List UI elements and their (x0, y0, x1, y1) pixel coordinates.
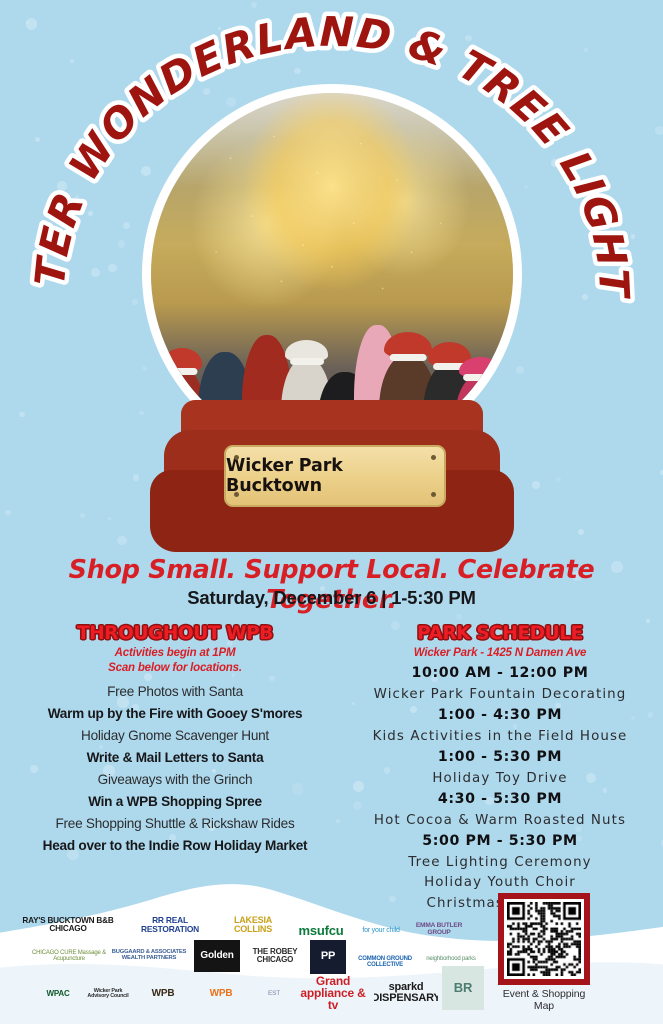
sponsor-name: sparkd DISPENSARY (374, 982, 438, 1004)
throughout-wpb-subtitle: Activities begin at 1PM Scan below for l… (10, 646, 340, 675)
qr-inner (504, 899, 584, 979)
base-plaque: Wicker Park Bucktown (224, 445, 446, 507)
santa-hat (162, 348, 202, 371)
park-schedule-time: 1:00 - 4:30 PM (340, 705, 660, 727)
title-arc-fill: WINTER WONDERLAND & TREE LIGHTING (0, 0, 638, 301)
schedule-columns: THROUGHOUT WPB Activities begin at 1PM S… (0, 624, 663, 884)
sponsor-name: neighborhood parks (426, 956, 475, 962)
throughout-sub-line-1: Activities begin at 1PM (10, 646, 340, 660)
sponsor-name: RAY'S BUCKTOWN B&B CHICAGO (20, 917, 116, 934)
sponsor-name: Grand appliance & tv (300, 976, 366, 1010)
sponsor-logo: LAKESIA COLLINS (222, 910, 284, 940)
park-schedule-event: Hot Cocoa & Warm Roasted Nuts (340, 811, 660, 831)
sponsor-logo: Grand appliance & tv (300, 976, 366, 1010)
qr-code-image[interactable] (507, 902, 581, 976)
sponsor-name: Wicker Park Advisory Council (86, 989, 130, 1000)
throughout-activity-item: Head over to the Indie Row Holiday Marke… (10, 835, 340, 857)
sponsor-name: THE ROBEY CHICAGO (246, 948, 304, 964)
poster-datetime: Saturday, December 6 | 1-5:30 PM (0, 587, 663, 609)
park-schedule-column: PARK SCHEDULE Wicker Park - 1425 N Damen… (340, 624, 660, 914)
sponsor-logo: EST (254, 974, 294, 1014)
poster-title-arc: WINTER WONDERLAND & TREE LIGHTING WINTER… (0, 28, 663, 328)
sponsor-name: for your child (362, 927, 399, 934)
sponsor-name: COMMON GROUND COLLECTIVE (350, 956, 420, 968)
sponsor-logo: for your child (358, 914, 404, 948)
sponsor-logo: sparkd DISPENSARY (374, 978, 438, 1008)
throughout-activity-item: Giveaways with the Grinch (10, 769, 340, 791)
sponsor-logo: BUGGAARD & ASSOCIATES WEALTH PARTNERS (110, 942, 188, 970)
park-schedule-time: 4:30 - 5:30 PM (340, 789, 660, 811)
qr-caption: Event & Shopping Map (492, 988, 596, 1012)
sponsor-name: EMMA BUTLER GROUP (408, 923, 470, 936)
sponsor-name: WPB (152, 989, 175, 999)
sponsor-name: WPAC (46, 990, 69, 998)
sponsor-name: RR REAL RESTORATION (124, 916, 216, 933)
sponsor-logo: WPB (196, 974, 246, 1014)
plaque-label: Wicker Park Bucktown (226, 456, 444, 496)
sponsor-logo: msufcu (290, 920, 352, 942)
snow-globe-base: Wicker Park Bucktown (150, 400, 514, 552)
sponsor-logo: PP (310, 940, 346, 974)
throughout-wpb-column: THROUGHOUT WPB Activities begin at 1PM S… (10, 624, 340, 857)
sponsor-logo: WPB (138, 974, 188, 1014)
park-schedule-heading: PARK SCHEDULE (340, 624, 660, 643)
plaque-screw (234, 492, 239, 497)
sponsor-logo: CHICAGO CURE Massage & Acupuncture (32, 940, 106, 972)
park-schedule-event: Wicker Park Fountain Decorating (340, 685, 660, 705)
sponsor-name: msufcu (298, 924, 343, 937)
plaque-screw (431, 455, 436, 460)
sponsor-logo: EMMA BUTLER GROUP (408, 914, 470, 946)
park-schedule-time: 5:00 PM - 5:30 PM (340, 831, 660, 853)
park-schedule-time: 1:00 - 5:30 PM (340, 747, 660, 769)
sponsor-name: Golden (200, 951, 233, 961)
sponsor-logo: COMMON GROUND COLLECTIVE (350, 948, 420, 976)
sponsor-name: EST (268, 991, 280, 998)
sponsor-logo: BR (442, 966, 484, 1010)
plaque-screw (431, 492, 436, 497)
sponsor-logo: RAY'S BUCKTOWN B&B CHICAGO (20, 912, 116, 938)
park-schedule-event: Holiday Toy Drive (340, 769, 660, 789)
qr-frame (498, 893, 590, 985)
sponsor-logo: WPAC (36, 972, 80, 1016)
sponsor-name: CHICAGO CURE Massage & Acupuncture (32, 950, 106, 962)
throughout-activity-item: Free Photos with Santa (10, 681, 340, 703)
santa-hat (285, 340, 328, 362)
qr-code-block[interactable]: Event & Shopping Map (492, 893, 596, 1012)
throughout-activity-item: Win a WPB Shopping Spree (10, 791, 340, 813)
throughout-activity-item: Warm up by the Fire with Gooey S'mores (10, 703, 340, 725)
poster-root: Wicker Park Bucktown WINTER WONDERLAND &… (0, 0, 663, 1024)
park-schedule-event: Kids Activities in the Field House (340, 727, 660, 747)
throughout-wpb-activity-list: Free Photos with SantaWarm up by the Fir… (10, 681, 340, 857)
sponsor-name: BUGGAARD & ASSOCIATES WEALTH PARTNERS (110, 950, 188, 962)
sponsor-name: WPB (210, 989, 233, 999)
santa-hat (459, 357, 502, 379)
throughout-activity-item: Holiday Gnome Scavenger Hunt (10, 725, 340, 747)
sponsor-name: PP (321, 951, 335, 962)
sponsor-logo: RR REAL RESTORATION (124, 912, 216, 938)
park-schedule-location: Wicker Park - 1425 N Damen Ave (340, 647, 660, 659)
sponsor-logo-grid: RAY'S BUCKTOWN B&B CHICAGORR REAL RESTOR… (14, 910, 484, 1018)
sponsor-name: BR (454, 981, 472, 994)
park-schedule-time: 10:00 AM - 12:00 PM (340, 663, 660, 685)
park-schedule-event: Tree Lighting Ceremony (340, 853, 660, 873)
sponsor-logo: Golden (194, 940, 240, 972)
sponsor-logo: Wicker Park Advisory Council (86, 972, 130, 1016)
throughout-activity-item: Free Shopping Shuttle & Rickshaw Rides (10, 813, 340, 835)
throughout-sub-line-2: Scan below for locations. (10, 661, 340, 675)
plaque-screw (234, 455, 239, 460)
throughout-activity-item: Write & Mail Letters to Santa (10, 747, 340, 769)
sponsor-name: LAKESIA COLLINS (222, 916, 284, 934)
santa-hat (384, 332, 431, 359)
sponsor-logo: THE ROBEY CHICAGO (246, 942, 304, 970)
throughout-wpb-heading: THROUGHOUT WPB (10, 624, 340, 643)
